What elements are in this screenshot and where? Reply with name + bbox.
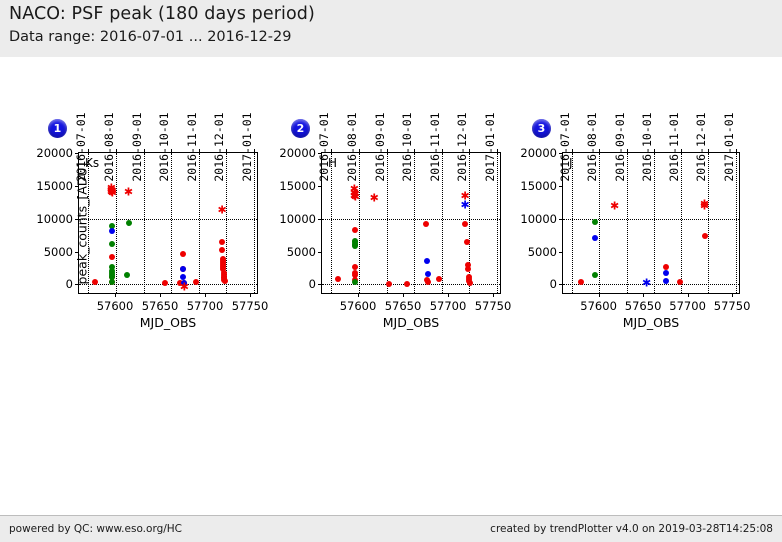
data-point bbox=[109, 241, 115, 247]
plot-axes-2: ✱✱✱✱✱✱✱✱05000100001500020000576005765057… bbox=[321, 152, 501, 294]
y-axis-tick bbox=[559, 186, 563, 187]
x-axis-top-tick bbox=[331, 149, 332, 153]
data-point bbox=[109, 279, 115, 285]
data-point bbox=[423, 221, 429, 227]
page-footer: powered by QC: www.eso.org/HC created by… bbox=[0, 515, 782, 542]
x-axis-top-tick bbox=[681, 149, 682, 153]
panel-badge-1: 1 bbox=[48, 119, 67, 138]
data-point bbox=[162, 280, 168, 286]
x-axis-tick bbox=[115, 293, 116, 297]
x-axis-top-tick bbox=[627, 149, 628, 153]
x-axis-date-label-text: 2016-09-01 bbox=[373, 112, 387, 181]
footer-credit-left: powered by QC: www.eso.org/HC bbox=[9, 523, 182, 535]
x-axis-date-label-text: 2016-11-01 bbox=[185, 112, 199, 181]
data-point-star: ✱ bbox=[642, 278, 651, 289]
data-point bbox=[352, 279, 358, 285]
x-axis-tick-label: 57750 bbox=[232, 299, 269, 313]
x-axis-date-label-text: 2016-12-01 bbox=[212, 112, 226, 181]
data-point bbox=[464, 239, 470, 245]
plot-axes-1: ✱✱✱✱✱✱✱✱05000100001500020000576005765057… bbox=[78, 152, 258, 294]
y-axis-tick-label: 5000 bbox=[44, 245, 73, 259]
data-point bbox=[180, 251, 186, 257]
x-axis-top-tick bbox=[599, 149, 600, 153]
x-axis-title: MJD_OBS bbox=[383, 315, 439, 330]
data-point bbox=[109, 254, 115, 260]
x-axis-date-label-text: 2016-10-01 bbox=[640, 112, 654, 181]
horizontal-gridline bbox=[79, 284, 257, 285]
data-point bbox=[465, 266, 471, 272]
x-axis-tick bbox=[688, 293, 689, 297]
panel-filter-tag: Ks bbox=[85, 156, 99, 170]
y-axis-tick-label: 15000 bbox=[520, 179, 557, 193]
y-axis-tick-label: 15000 bbox=[279, 179, 316, 193]
data-point bbox=[222, 278, 228, 284]
page-header: NACO: PSF peak (180 days period) Data ra… bbox=[0, 0, 782, 57]
x-axis-date-label-text: 2016-11-01 bbox=[667, 112, 681, 181]
x-axis-top-tick bbox=[359, 149, 360, 153]
x-axis-tick bbox=[250, 293, 251, 297]
data-point bbox=[219, 247, 225, 253]
chart-page: NACO: PSF peak (180 days period) Data ra… bbox=[0, 0, 782, 542]
y-axis-tick-label: 0 bbox=[309, 277, 316, 291]
vertical-gridline bbox=[116, 153, 117, 293]
y-axis-tick-label: 5000 bbox=[528, 245, 557, 259]
x-axis-tick-label: 57700 bbox=[430, 299, 467, 313]
x-axis-tick-label: 57700 bbox=[669, 299, 706, 313]
y-axis-title: peak_counts_[ADU] bbox=[75, 153, 90, 295]
page-subtitle: Data range: 2016-07-01 ... 2016-12-29 bbox=[9, 29, 291, 45]
x-axis-tick bbox=[358, 293, 359, 297]
data-point-star: ✱ bbox=[460, 199, 469, 210]
data-point bbox=[180, 266, 186, 272]
data-point bbox=[193, 279, 199, 285]
horizontal-gridline bbox=[563, 219, 739, 220]
data-point bbox=[436, 276, 442, 282]
page-title: NACO: PSF peak (180 days period) bbox=[9, 4, 315, 24]
x-axis-tick bbox=[599, 293, 600, 297]
data-point bbox=[404, 281, 410, 287]
x-axis-top-tick bbox=[116, 149, 117, 153]
x-axis-top-tick bbox=[708, 149, 709, 153]
y-axis-tick bbox=[318, 219, 322, 220]
data-point bbox=[425, 279, 431, 285]
x-axis-tick-label: 57750 bbox=[714, 299, 751, 313]
x-axis-tick-label: 57700 bbox=[187, 299, 224, 313]
y-axis-tick-label: 5000 bbox=[287, 245, 316, 259]
x-axis-top-tick bbox=[572, 149, 573, 153]
data-point bbox=[592, 235, 598, 241]
vertical-gridline bbox=[572, 153, 573, 293]
y-axis-tick-label: 0 bbox=[66, 277, 73, 291]
data-point bbox=[467, 280, 473, 286]
x-axis-date-label-text: 2016-08-01 bbox=[585, 112, 599, 181]
vertical-gridline bbox=[708, 153, 709, 293]
data-point-star: ✱ bbox=[370, 192, 379, 203]
vertical-gridline bbox=[599, 153, 600, 293]
data-point bbox=[578, 279, 584, 285]
x-axis-tick-label: 57600 bbox=[340, 299, 377, 313]
data-point bbox=[109, 228, 115, 234]
y-axis-tick bbox=[559, 219, 563, 220]
vertical-gridline bbox=[681, 153, 682, 293]
data-point bbox=[677, 279, 683, 285]
x-axis-title: MJD_OBS bbox=[623, 315, 679, 330]
x-axis-date-label-text: 2016-08-01 bbox=[102, 112, 116, 181]
vertical-gridline bbox=[627, 153, 628, 293]
panel-filter-tag: H bbox=[328, 156, 337, 170]
data-point bbox=[592, 272, 598, 278]
x-axis-tick-label: 57600 bbox=[580, 299, 617, 313]
x-axis-date-label-text: 2016-12-01 bbox=[455, 112, 469, 181]
y-axis-tick bbox=[559, 284, 563, 285]
data-point bbox=[425, 271, 431, 277]
vertical-gridline bbox=[359, 153, 360, 293]
data-point bbox=[92, 279, 98, 285]
x-axis-tick bbox=[403, 293, 404, 297]
x-axis-title: MJD_OBS bbox=[140, 315, 196, 330]
panel-badge-2: 2 bbox=[291, 119, 310, 138]
y-axis-tick-label: 0 bbox=[550, 277, 557, 291]
data-point bbox=[386, 281, 392, 287]
data-point bbox=[462, 221, 468, 227]
horizontal-gridline bbox=[322, 219, 500, 220]
x-axis-tick-label: 57650 bbox=[625, 299, 662, 313]
y-axis-tick-label: 10000 bbox=[279, 212, 316, 226]
x-axis-tick bbox=[732, 293, 733, 297]
y-axis-tick-label: 20000 bbox=[520, 146, 557, 160]
data-point bbox=[335, 276, 341, 282]
y-axis-tick-label: 10000 bbox=[36, 212, 73, 226]
x-axis-date-label-text: 2017-01-01 bbox=[240, 112, 254, 181]
x-axis-tick-label: 57750 bbox=[475, 299, 512, 313]
x-axis-date-label-text: 2016-12-01 bbox=[694, 112, 708, 181]
data-point-star: ✱ bbox=[108, 188, 117, 199]
x-axis-date-label-text: 2016-07-01 bbox=[317, 112, 331, 181]
x-axis-date-label-text: 2016-11-01 bbox=[428, 112, 442, 181]
y-axis-tick bbox=[318, 284, 322, 285]
data-point-star: ✱ bbox=[351, 192, 360, 203]
x-axis-date-label-text: 2016-09-01 bbox=[613, 112, 627, 181]
data-point-star: ✱ bbox=[700, 201, 709, 212]
x-axis-date-label-text: 2016-10-01 bbox=[157, 112, 171, 181]
x-axis-date-label-text: 2016-09-01 bbox=[130, 112, 144, 181]
footer-credit-right: created by trendPlotter v4.0 on 2019-03-… bbox=[490, 523, 773, 535]
data-point bbox=[424, 258, 430, 264]
panel-filter-tag: J bbox=[569, 156, 573, 170]
data-point bbox=[592, 219, 598, 225]
x-axis-date-label-text: 2017-01-01 bbox=[483, 112, 497, 181]
data-point bbox=[352, 243, 358, 249]
data-point bbox=[663, 270, 669, 276]
x-axis-tick-label: 57650 bbox=[385, 299, 422, 313]
x-axis-date-label-text: 2016-10-01 bbox=[400, 112, 414, 181]
data-point-star: ✱ bbox=[180, 281, 189, 292]
data-point bbox=[126, 220, 132, 226]
x-axis-tick-label: 57600 bbox=[97, 299, 134, 313]
panel-badge-3: 3 bbox=[532, 119, 551, 138]
data-point bbox=[702, 233, 708, 239]
x-axis-date-label-text: 2016-07-01 bbox=[558, 112, 572, 181]
data-point bbox=[219, 239, 225, 245]
y-axis-tick-label: 20000 bbox=[279, 146, 316, 160]
y-axis-tick bbox=[559, 252, 563, 253]
x-axis-tick-label: 57650 bbox=[142, 299, 179, 313]
y-axis-tick bbox=[318, 252, 322, 253]
y-axis-tick-label: 15000 bbox=[36, 179, 73, 193]
plot-axes-3: ✱✱✱✱050001000015000200005760057650577005… bbox=[562, 152, 740, 294]
data-point bbox=[180, 274, 186, 280]
y-axis-tick-label: 20000 bbox=[36, 146, 73, 160]
x-axis-date-label-text: 2017-01-01 bbox=[722, 112, 736, 181]
horizontal-gridline bbox=[79, 219, 257, 220]
horizontal-gridline bbox=[322, 284, 500, 285]
data-point bbox=[663, 278, 669, 284]
y-axis-tick-label: 10000 bbox=[520, 212, 557, 226]
x-axis-tick bbox=[160, 293, 161, 297]
vertical-gridline bbox=[331, 153, 332, 293]
y-axis-tick bbox=[318, 186, 322, 187]
data-point-star: ✱ bbox=[610, 200, 619, 211]
x-axis-tick bbox=[493, 293, 494, 297]
data-point bbox=[352, 227, 358, 233]
x-axis-tick bbox=[448, 293, 449, 297]
x-axis-date-label-text: 2016-08-01 bbox=[345, 112, 359, 181]
data-point-star: ✱ bbox=[217, 204, 226, 215]
data-point bbox=[124, 272, 130, 278]
x-axis-tick bbox=[643, 293, 644, 297]
data-point-star: ✱ bbox=[124, 186, 133, 197]
x-axis-tick bbox=[205, 293, 206, 297]
